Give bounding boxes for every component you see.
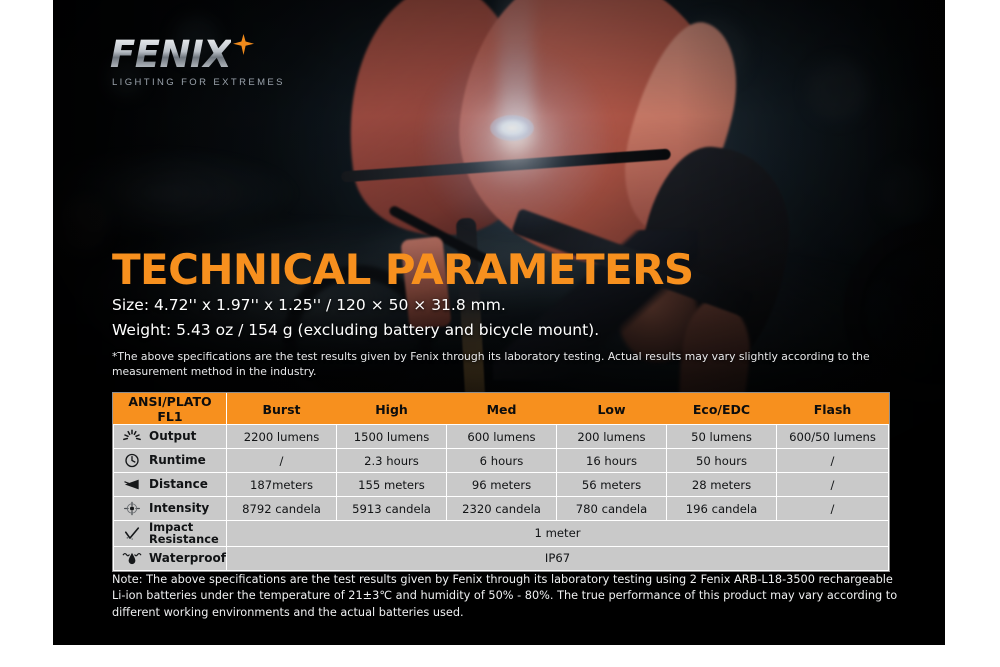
row-header-runtime: Runtime bbox=[114, 449, 227, 473]
size-line: Size: 4.72'' x 1.97'' x 1.25'' / 120 × 5… bbox=[112, 293, 902, 318]
waterproof-icon bbox=[122, 550, 142, 567]
table-row: Output 2200 lumens 1500 lumens 600 lumen… bbox=[114, 425, 889, 449]
row-header-intensity: Intensity bbox=[114, 497, 227, 521]
cell-runtime-eco: 50 hours bbox=[667, 449, 777, 473]
table-row: Intensity 8792 candela 5913 candela 2320… bbox=[114, 497, 889, 521]
row-header-waterproof: Waterproof bbox=[114, 546, 227, 570]
column-header-med: Med bbox=[447, 394, 557, 425]
cell-intensity-burst: 8792 candela bbox=[227, 497, 337, 521]
column-header-flash: Flash bbox=[777, 394, 889, 425]
weight-line: Weight: 5.43 oz / 154 g (excluding batte… bbox=[112, 318, 902, 343]
cell-intensity-high: 5913 candela bbox=[337, 497, 447, 521]
cell-distance-burst: 187meters bbox=[227, 473, 337, 497]
intensity-crosshair-icon bbox=[122, 500, 142, 517]
column-header-high: High bbox=[337, 394, 447, 425]
specs-disclaimer: *The above specifications are the test r… bbox=[112, 350, 902, 380]
fenix-star-icon bbox=[233, 34, 254, 55]
cell-distance-low: 56 meters bbox=[557, 473, 667, 497]
cell-output-burst: 2200 lumens bbox=[227, 425, 337, 449]
cell-intensity-low: 780 candela bbox=[557, 497, 667, 521]
column-header-low: Low bbox=[557, 394, 667, 425]
cell-distance-med: 96 meters bbox=[447, 473, 557, 497]
cell-runtime-low: 16 hours bbox=[557, 449, 667, 473]
technical-parameters-table: ANSI/PLATO FL1 Burst High Med Low Eco/ED… bbox=[113, 393, 889, 571]
row-label: Distance bbox=[149, 478, 208, 491]
cell-impact-resistance-value: 1 meter bbox=[227, 521, 889, 547]
cell-intensity-eco: 196 candela bbox=[667, 497, 777, 521]
clock-icon bbox=[122, 452, 142, 469]
cell-runtime-flash: / bbox=[777, 449, 889, 473]
column-header-ansi: ANSI/PLATO FL1 bbox=[114, 394, 227, 425]
fenix-logo-tagline: LIGHTING FOR EXTREMES bbox=[112, 77, 285, 88]
cell-runtime-burst: / bbox=[227, 449, 337, 473]
table-row: ImpactResistance 1 meter bbox=[114, 521, 889, 547]
row-label: Runtime bbox=[149, 454, 206, 467]
cell-runtime-med: 6 hours bbox=[447, 449, 557, 473]
cell-distance-high: 155 meters bbox=[337, 473, 447, 497]
cell-runtime-high: 2.3 hours bbox=[337, 449, 447, 473]
fenix-logo: FENIX LIGHTING FOR EXTREMES bbox=[110, 36, 285, 88]
cell-distance-flash: / bbox=[777, 473, 889, 497]
cell-output-low: 200 lumens bbox=[557, 425, 667, 449]
beam-distance-icon bbox=[122, 476, 142, 493]
cell-output-flash: 600/50 lumens bbox=[777, 425, 889, 449]
row-label: Waterproof bbox=[149, 552, 226, 565]
cell-waterproof-value: IP67 bbox=[227, 546, 889, 570]
cell-distance-eco: 28 meters bbox=[667, 473, 777, 497]
column-header-burst: Burst bbox=[227, 394, 337, 425]
table-header-row: ANSI/PLATO FL1 Burst High Med Low Eco/ED… bbox=[114, 394, 889, 425]
page-title: TECHNICAL PARAMETERS bbox=[112, 248, 902, 293]
row-header-output: Output bbox=[114, 425, 227, 449]
cell-output-med: 600 lumens bbox=[447, 425, 557, 449]
cell-output-high: 1500 lumens bbox=[337, 425, 447, 449]
column-header-eco-edc: Eco/EDC bbox=[667, 394, 777, 425]
cell-output-eco: 50 lumens bbox=[667, 425, 777, 449]
page-canvas: FENIX LIGHTING FOR EXTREMES TECHNICAL PA… bbox=[0, 0, 1000, 667]
fenix-logo-wordmark: FENIX bbox=[110, 36, 231, 73]
row-label: Intensity bbox=[149, 502, 209, 515]
cell-intensity-med: 2320 candela bbox=[447, 497, 557, 521]
row-label: Output bbox=[149, 430, 196, 443]
table-row: Waterproof IP67 bbox=[114, 546, 889, 570]
row-label-line2: Resistance bbox=[149, 532, 219, 546]
row-header-distance: Distance bbox=[114, 473, 227, 497]
row-label: ImpactResistance bbox=[149, 521, 219, 546]
impact-drop-icon bbox=[122, 525, 142, 542]
row-header-impact-resistance: ImpactResistance bbox=[114, 521, 227, 547]
cell-intensity-flash: / bbox=[777, 497, 889, 521]
table-row: Distance 187meters 155 meters 96 meters … bbox=[114, 473, 889, 497]
footnote: Note: The above specifications are the t… bbox=[112, 572, 907, 621]
table-row: Runtime / 2.3 hours 6 hours 16 hours 50 … bbox=[114, 449, 889, 473]
output-rays-icon bbox=[122, 428, 142, 445]
headline-block: TECHNICAL PARAMETERS Size: 4.72'' x 1.97… bbox=[112, 248, 902, 380]
